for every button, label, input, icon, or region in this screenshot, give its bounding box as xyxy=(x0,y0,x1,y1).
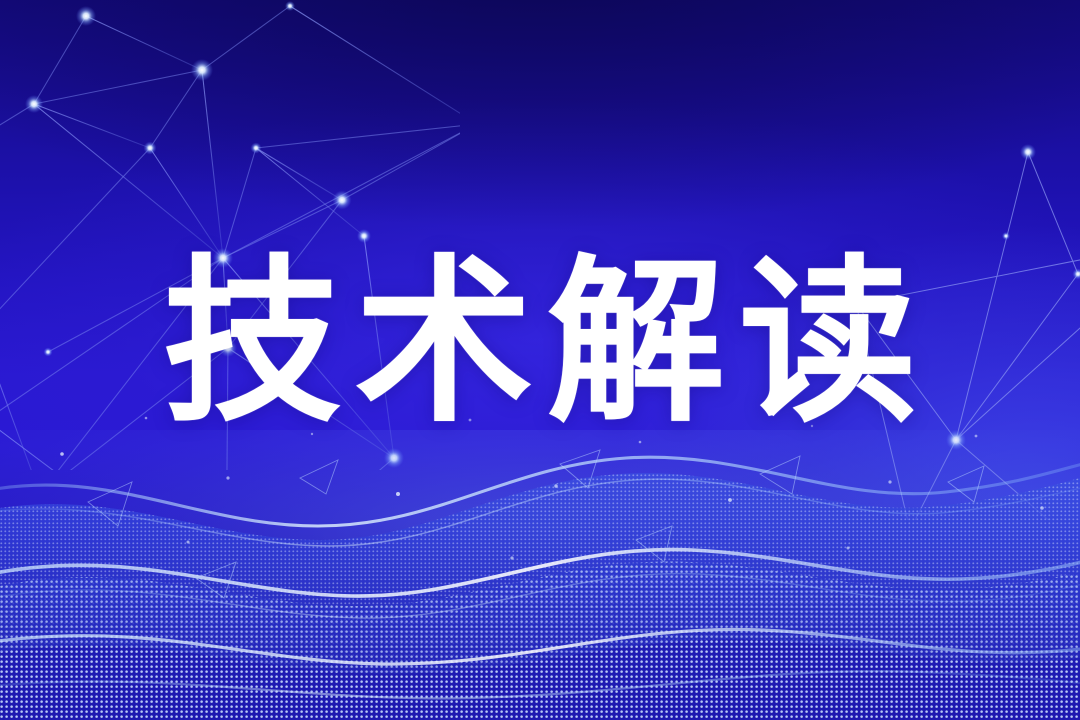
page-title: 技术解读 xyxy=(149,248,931,438)
headline-container: 技术解读 xyxy=(0,248,1080,438)
tech-banner: 技术解读 xyxy=(0,0,1080,720)
